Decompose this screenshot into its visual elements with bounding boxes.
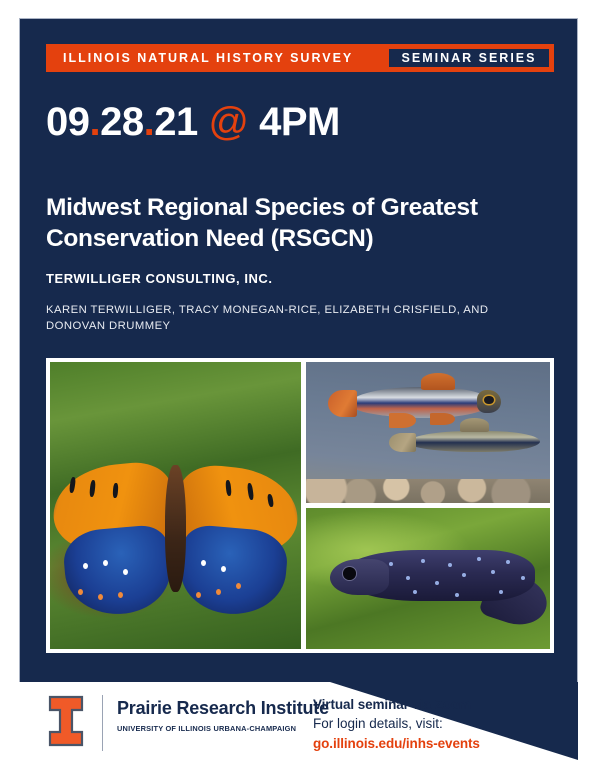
logo-subtitle: UNIVERSITY OF ILLINOIS URBANA-CHAMPAIGN (117, 724, 329, 733)
photo-collage (46, 358, 554, 653)
photo-column-right (306, 362, 550, 649)
fish-upper-pelvic-fin (389, 413, 416, 429)
butterfly-wing-spot (201, 560, 206, 566)
presenters-label: KAREN TERWILLIGER, TRACY MONEGAN-RICE, E… (46, 302, 516, 334)
logo-title: Prairie Research Institute (117, 698, 329, 719)
fish-upper-eye (484, 396, 494, 404)
affiliation-label: TERWILLIGER CONSULTING, INC. (46, 271, 273, 286)
zoom-heading: Virtual seminar via Zoom (313, 697, 480, 712)
butterfly-body (165, 465, 185, 591)
butterfly-wing-spot (216, 589, 221, 595)
zoom-link[interactable]: go.illinois.edu/inhs-events (313, 736, 480, 751)
gravel-substrate (306, 479, 550, 503)
zoom-detail: For login details, visit: (313, 716, 480, 731)
butterfly-wing-spot (78, 589, 83, 595)
at-symbol: @ (208, 100, 248, 144)
date-separator-1: . (90, 100, 101, 144)
salamander-spot (455, 593, 459, 597)
photo-column-left (50, 362, 301, 649)
illinois-block-i-icon (46, 695, 86, 747)
event-time: 4PM (259, 100, 340, 144)
salamander-head (330, 559, 389, 596)
butterfly-stripe (112, 482, 118, 497)
butterfly-wing-spot (103, 560, 108, 566)
prairie-research-institute-logo: Prairie Research Institute UNIVERSITY OF… (46, 695, 329, 751)
date-day: 28 (100, 100, 144, 144)
date-month: 09 (46, 100, 90, 144)
fish-upper-tail (328, 390, 357, 417)
fish-lower-tail (389, 433, 416, 453)
seminar-poster: ILLINOIS NATURAL HISTORY SURVEY SEMINAR … (0, 0, 600, 777)
fish-upper-dorsal-fin (421, 373, 455, 390)
fish-lower-dorsal-fin (460, 418, 489, 432)
salamander-spot (499, 590, 503, 594)
butterfly-lower-left-wing (61, 524, 174, 619)
salamander-spot (448, 563, 452, 567)
salamander-spot (421, 559, 425, 563)
date-year: 21 (154, 100, 198, 144)
butterfly-lower-right-wing (177, 524, 290, 619)
salamander-photo (306, 508, 550, 649)
banner-organization-label: ILLINOIS NATURAL HISTORY SURVEY (46, 51, 353, 65)
event-datetime: 09.28.21 @ 4PM (46, 102, 340, 142)
salamander-spot (521, 576, 525, 580)
date-separator-2: . (144, 100, 155, 144)
butterfly-wing-spot (83, 563, 88, 569)
fish-lower-body (408, 431, 540, 452)
salamander-spot (462, 573, 466, 577)
zoom-info-block: Virtual seminar via Zoom For login detai… (313, 697, 480, 751)
butterfly-photo (50, 362, 301, 649)
fish-photo (306, 362, 550, 503)
butterfly-wing-spot (221, 566, 226, 572)
butterfly-wing-spot (118, 592, 123, 598)
salamander-eye (343, 567, 356, 580)
banner-series-box: SEMINAR SERIES (387, 47, 551, 69)
header-banner: ILLINOIS NATURAL HISTORY SURVEY SEMINAR … (46, 44, 554, 72)
logo-text-block: Prairie Research Institute UNIVERSITY OF… (117, 695, 329, 733)
banner-series-label: SEMINAR SERIES (402, 51, 537, 65)
page-title: Midwest Regional Species of Greatest Con… (46, 192, 546, 255)
fish-upper-anal-fin (430, 413, 454, 426)
salamander-spot (406, 576, 410, 580)
butterfly-wing-spot (123, 569, 128, 575)
logo-divider (102, 695, 103, 751)
salamander-spot (389, 562, 393, 566)
butterfly-wing-spot (196, 592, 201, 598)
butterfly-wing-spot (236, 583, 241, 589)
poster-footer: Prairie Research Institute UNIVERSITY OF… (0, 682, 600, 777)
fish-upper-body (350, 387, 492, 418)
